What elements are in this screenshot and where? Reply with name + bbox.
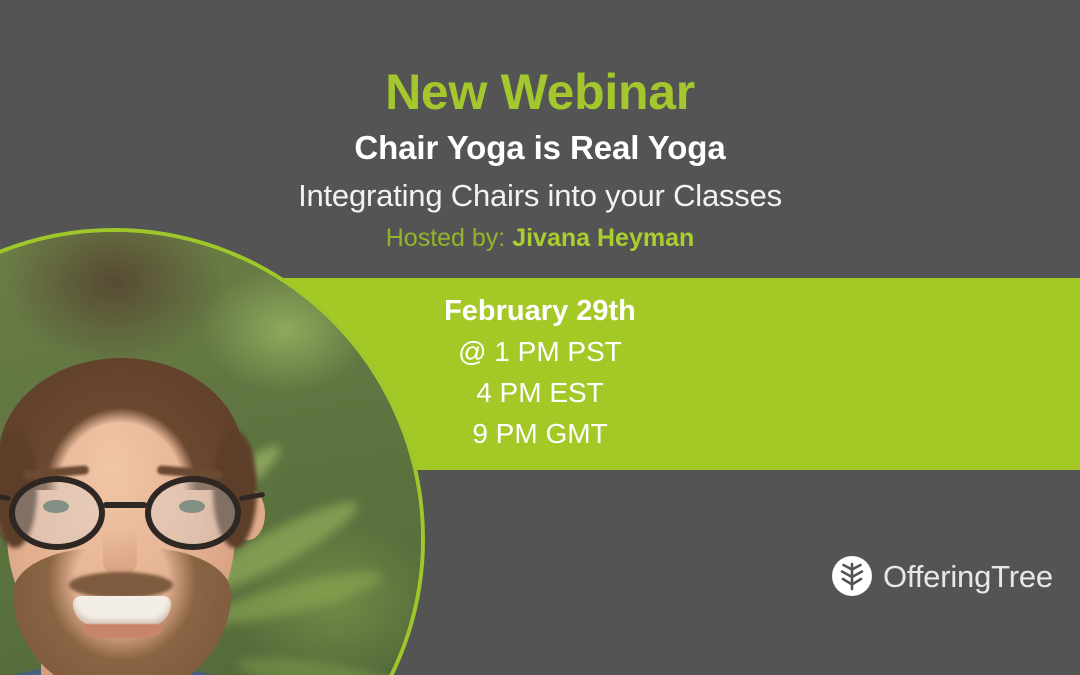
mustache [69,572,173,598]
lower-lip [81,624,163,638]
logo-wordmark: OfferingTree [883,561,1053,592]
tree-icon [832,556,872,596]
page-title: Chair Yoga is Real Yoga [0,119,1080,166]
offeringtree-logo: OfferingTree [832,556,1053,596]
page-subtitle: Integrating Chairs into your Classes [0,166,1080,213]
glasses-bridge [103,502,147,508]
host-name: Jivana Heyman [512,224,694,252]
lens-right [145,476,241,550]
host-portrait [0,228,425,675]
webinar-promo-poster: New Webinar Chair Yoga is Real Yoga Inte… [0,0,1080,675]
portrait-photo [0,232,421,675]
mouth [73,596,171,626]
headline-block: New Webinar Chair Yoga is Real Yoga Inte… [0,0,1080,252]
foliage-leaf [236,651,398,675]
lens-left [9,476,105,550]
eyebrow-text: New Webinar [0,0,1080,119]
